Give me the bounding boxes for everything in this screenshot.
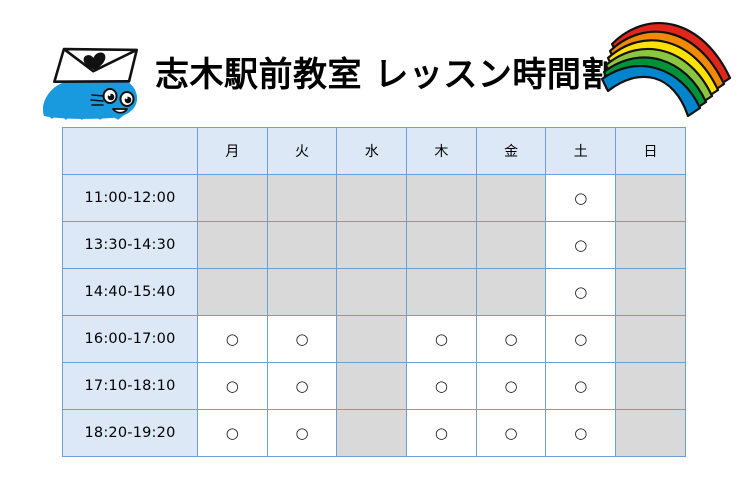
available-circle-icon: ○ <box>574 332 587 347</box>
available-circle-icon: ○ <box>435 379 448 394</box>
table-row: 18:20-19:20○○○○○ <box>63 410 686 457</box>
lesson-slot-unavailable[interactable] <box>267 269 337 316</box>
available-circle-icon: ○ <box>505 426 518 441</box>
lesson-slot-available[interactable]: ○ <box>198 410 268 457</box>
time-slot-label: 16:00-17:00 <box>63 316 198 363</box>
lesson-slot-available[interactable]: ○ <box>546 269 616 316</box>
lesson-slot-unavailable[interactable] <box>407 269 477 316</box>
table-header-row: 月 火 水 木 金 土 日 <box>63 128 686 175</box>
lesson-slot-available[interactable]: ○ <box>267 410 337 457</box>
day-header-sun: 日 <box>616 128 686 175</box>
lesson-slot-unavailable[interactable] <box>337 363 407 410</box>
day-header-mon: 月 <box>198 128 268 175</box>
day-header-thu: 木 <box>407 128 477 175</box>
page-header: 志木駅前教室 レッスン時間割 <box>0 0 750 127</box>
time-slot-label: 11:00-12:00 <box>63 175 198 222</box>
lesson-slot-unavailable[interactable] <box>616 410 686 457</box>
time-slot-label: 18:20-19:20 <box>63 410 198 457</box>
time-slot-label: 14:40-15:40 <box>63 269 198 316</box>
lesson-slot-available[interactable]: ○ <box>476 316 546 363</box>
available-circle-icon: ○ <box>435 332 448 347</box>
lesson-slot-unavailable[interactable] <box>198 269 268 316</box>
lesson-slot-available[interactable]: ○ <box>546 222 616 269</box>
lesson-slot-unavailable[interactable] <box>616 363 686 410</box>
time-slot-label: 13:30-14:30 <box>63 222 198 269</box>
lesson-slot-available[interactable]: ○ <box>546 410 616 457</box>
lesson-slot-unavailable[interactable] <box>198 222 268 269</box>
page-title: 志木駅前教室 レッスン時間割 <box>155 58 616 92</box>
envelope-blob-character-icon <box>34 38 154 120</box>
lesson-slot-available[interactable]: ○ <box>407 410 477 457</box>
available-circle-icon: ○ <box>226 379 239 394</box>
lesson-slot-unavailable[interactable] <box>337 316 407 363</box>
lesson-slot-unavailable[interactable] <box>198 175 268 222</box>
available-circle-icon: ○ <box>295 426 308 441</box>
time-slot-label: 17:10-18:10 <box>63 363 198 410</box>
available-circle-icon: ○ <box>295 379 308 394</box>
available-circle-icon: ○ <box>226 332 239 347</box>
table-body: 11:00-12:00○13:30-14:30○14:40-15:40○16:0… <box>63 175 686 457</box>
available-circle-icon: ○ <box>574 191 587 206</box>
lesson-slot-available[interactable]: ○ <box>546 363 616 410</box>
table-row: 17:10-18:10○○○○○ <box>63 363 686 410</box>
table-row: 14:40-15:40○ <box>63 269 686 316</box>
table-row: 11:00-12:00○ <box>63 175 686 222</box>
lesson-slot-unavailable[interactable] <box>337 410 407 457</box>
lesson-slot-available[interactable]: ○ <box>546 175 616 222</box>
lesson-slot-unavailable[interactable] <box>616 316 686 363</box>
available-circle-icon: ○ <box>574 426 587 441</box>
lesson-slot-unavailable[interactable] <box>616 269 686 316</box>
lesson-slot-available[interactable]: ○ <box>546 316 616 363</box>
table-row: 16:00-17:00○○○○○ <box>63 316 686 363</box>
lesson-slot-available[interactable]: ○ <box>476 410 546 457</box>
day-header-fri: 金 <box>476 128 546 175</box>
lesson-slot-available[interactable]: ○ <box>407 363 477 410</box>
lesson-slot-available[interactable]: ○ <box>198 316 268 363</box>
lesson-slot-available[interactable]: ○ <box>198 363 268 410</box>
lesson-slot-unavailable[interactable] <box>337 269 407 316</box>
available-circle-icon: ○ <box>295 332 308 347</box>
lesson-slot-available[interactable]: ○ <box>476 363 546 410</box>
available-circle-icon: ○ <box>505 332 518 347</box>
available-circle-icon: ○ <box>505 379 518 394</box>
available-circle-icon: ○ <box>435 426 448 441</box>
lesson-slot-unavailable[interactable] <box>476 175 546 222</box>
table-row: 13:30-14:30○ <box>63 222 686 269</box>
lesson-slot-unavailable[interactable] <box>337 175 407 222</box>
lesson-slot-available[interactable]: ○ <box>267 316 337 363</box>
lesson-slot-unavailable[interactable] <box>616 222 686 269</box>
lesson-slot-available[interactable]: ○ <box>407 316 477 363</box>
day-header-wed: 水 <box>337 128 407 175</box>
lesson-timetable: 月 火 水 木 金 土 日 11:00-12:00○13:30-14:30○14… <box>62 127 686 457</box>
available-circle-icon: ○ <box>574 238 587 253</box>
lesson-slot-unavailable[interactable] <box>476 222 546 269</box>
day-header-tue: 火 <box>267 128 337 175</box>
rainbow-arc-icon <box>590 4 750 128</box>
lesson-slot-unavailable[interactable] <box>337 222 407 269</box>
lesson-slot-available[interactable]: ○ <box>267 363 337 410</box>
lesson-slot-unavailable[interactable] <box>616 175 686 222</box>
lesson-slot-unavailable[interactable] <box>476 269 546 316</box>
available-circle-icon: ○ <box>226 426 239 441</box>
day-header-sat: 土 <box>546 128 616 175</box>
available-circle-icon: ○ <box>574 285 587 300</box>
lesson-slot-unavailable[interactable] <box>407 222 477 269</box>
lesson-slot-unavailable[interactable] <box>267 175 337 222</box>
lesson-slot-unavailable[interactable] <box>407 175 477 222</box>
available-circle-icon: ○ <box>574 379 587 394</box>
header-corner-cell <box>63 128 198 175</box>
lesson-slot-unavailable[interactable] <box>267 222 337 269</box>
